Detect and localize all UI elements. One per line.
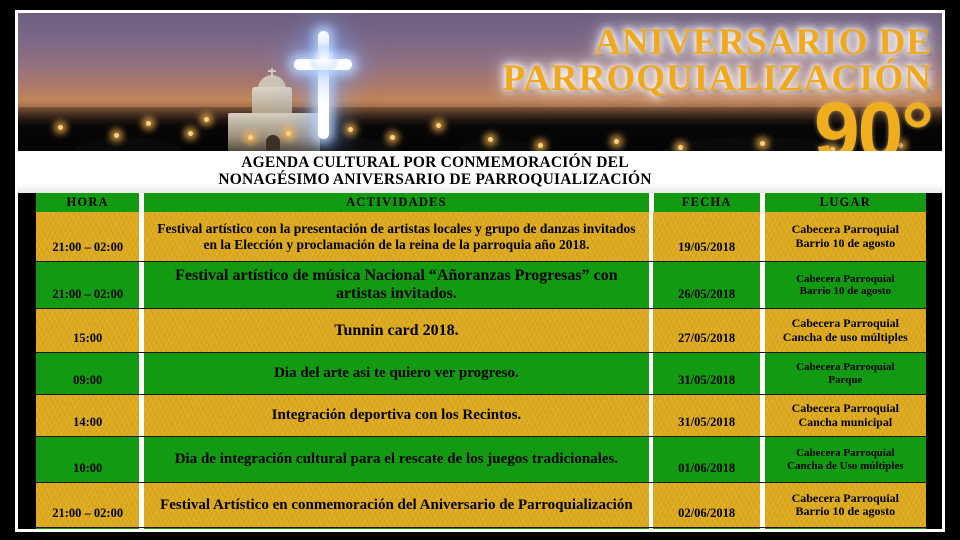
cell-lugar: Cabecera Parroquial Cancha municipal	[765, 395, 926, 436]
table-row: 21:00 – 02:00 Festival artístico con la …	[36, 212, 926, 262]
cell-fecha: 27/05/2018	[653, 309, 759, 352]
cell-hora: 10:00	[36, 437, 139, 482]
column-header-actividades: ACTIVIDADES	[144, 193, 649, 212]
lugar-line-1: Cabecera Parroquial	[792, 402, 899, 415]
lugar-line-1: Cabecera Parroquial	[787, 447, 903, 459]
agenda-table: HORA ACTIVIDADES FECHA LUGAR 21:00 – 02:…	[36, 193, 926, 532]
bullet-icon: •	[299, 530, 329, 532]
lugar-line-2: Cancha de uso múltiples	[783, 331, 908, 344]
cell-hora: 10:00	[36, 528, 139, 532]
table-row: 14:00 Integración deportiva con los Reci…	[36, 395, 926, 437]
lugar-line-1: Cabecera Parroquial	[792, 492, 899, 505]
cell-hora: 09:00	[36, 353, 139, 394]
table-header-row: HORA ACTIVIDADES FECHA LUGAR	[36, 193, 926, 212]
title-bar: AGENDA CULTURAL POR CONMEMORACIÓN DEL NO…	[18, 151, 942, 193]
cell-actividad: Integración deportiva con los Recintos.	[144, 395, 648, 436]
cell-actividad: Dia de integración cultural para el resc…	[144, 437, 648, 482]
page-title-line-1: AGENDA CULTURAL POR CONMEMORACIÓN DEL	[18, 154, 942, 172]
cell-fecha: 02/06/2018	[653, 483, 759, 527]
cell-fecha: 01/06/2018	[653, 437, 759, 482]
cell-fecha: 26/05/2018	[653, 262, 759, 308]
anniversary-headline: ANIVERSARIO DE PARROQUIALIZACIÓN 90°	[502, 25, 932, 153]
cell-actividad: •Desfile Cívico-estudiantil. •Sesión Con…	[144, 528, 648, 532]
anniversary-number: 90°	[502, 98, 932, 153]
table-row: 09:00 Dia del arte asi te quiero ver pro…	[36, 353, 926, 395]
cell-hora: 21:00 – 02:00	[36, 483, 139, 527]
table-row: 21:00 – 02:00 Festival Artístico en conm…	[36, 483, 926, 528]
column-header-lugar: LUGAR	[765, 193, 926, 212]
activity-bullet-list: •Desfile Cívico-estudiantil. •Sesión Con…	[149, 530, 643, 532]
lugar-line-2: Cancha de Uso múltiples	[787, 460, 903, 472]
page-title-line-2: NONAGÉSIMO ANIVERSARIO DE PARROQUIALIZAC…	[18, 171, 942, 189]
lugar-line-2: Barrio 10 de agosto	[796, 285, 894, 297]
lugar-line-1: Cabecera Parroquial	[796, 361, 894, 373]
cell-lugar: Cabecera Parroquial Cancha de uso múltip…	[765, 309, 926, 352]
lugar-line-1: Cabecera Parroquial	[796, 273, 894, 285]
cell-fecha: 03/06/2018	[653, 528, 759, 532]
cell-hora: 21:00 – 02:00	[36, 262, 139, 308]
cell-actividad: Festival artístico de música Nacional “A…	[144, 262, 648, 308]
table-row: 21:00 – 02:00 Festival artístico de músi…	[36, 262, 926, 309]
cross-glow-halo	[308, 43, 340, 75]
poster-root: ANIVERSARIO DE PARROQUIALIZACIÓN 90° AGE…	[0, 0, 960, 540]
cell-hora: 14:00	[36, 395, 139, 436]
table-row: 10:00 Dia de integración cultural para e…	[36, 437, 926, 483]
cell-actividad: Tunnin card 2018.	[144, 309, 648, 352]
cell-lugar: Cabecera Parroquial Barrio 10 de agosto	[765, 483, 926, 527]
cell-lugar: Cabecera Parroquial Cancha de Uso múltip…	[765, 437, 926, 482]
cell-lugar: Cabecera Parroquial Parque	[765, 353, 926, 394]
column-header-fecha: FECHA	[654, 193, 760, 212]
cell-actividad: Festival Artístico en conmemoración del …	[144, 483, 648, 527]
lugar-line-2: Cancha municipal	[792, 416, 899, 429]
cell-fecha: 31/05/2018	[653, 395, 759, 436]
cell-hora: 21:00 – 02:00	[36, 212, 139, 261]
column-header-hora: HORA	[36, 193, 139, 212]
lugar-line-2: Parque	[796, 374, 894, 386]
cell-fecha: 19/05/2018	[653, 212, 759, 261]
lugar-line-2: Barrio 10 de agosto	[792, 505, 899, 518]
cell-lugar: Cabecera Parroquial Barrio 10 de agosto	[765, 212, 926, 261]
cell-lugar: Cabecera Parroquial Barrio 10 de agosto	[765, 262, 926, 308]
list-item: •Desfile Cívico-estudiantil.	[299, 530, 643, 532]
headline-line-1: ANIVERSARIO DE	[502, 25, 932, 61]
table-row: 15:00 Tunnin card 2018. 27/05/2018 Cabec…	[36, 309, 926, 353]
cell-actividad: Dia del arte asi te quiero ver progreso.	[144, 353, 648, 394]
lugar-line-2: Barrio 10 de agosto	[792, 237, 899, 250]
poster-frame: ANIVERSARIO DE PARROQUIALIZACIÓN 90° AGE…	[15, 10, 945, 532]
lugar-line-1: Cabecera Parroquial	[783, 317, 908, 330]
cell-fecha: 31/05/2018	[653, 353, 759, 394]
cell-actividad: Festival artístico con la presentación d…	[144, 212, 648, 261]
illuminated-cross-icon	[294, 31, 352, 139]
table-row: 10:00 •Desfile Cívico-estudiantil. •Sesi…	[36, 528, 926, 532]
cell-hora: 15:00	[36, 309, 139, 352]
lugar-line-1: Cabecera Parroquial	[792, 223, 899, 236]
hero-banner-photo: ANIVERSARIO DE PARROQUIALIZACIÓN 90°	[18, 13, 942, 153]
cell-lugar: Cabecera Parroquial	[765, 528, 926, 532]
church-cross-icon	[271, 68, 273, 77]
